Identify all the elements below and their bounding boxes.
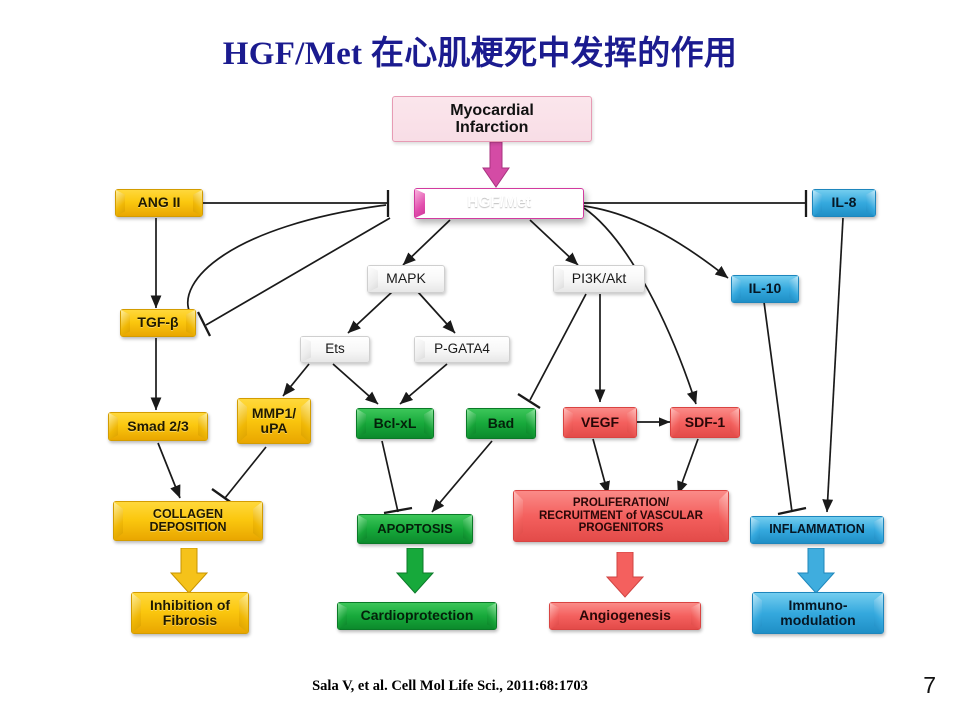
node-inhibition-of-fibrosis[interactable]: Inhibition of Fibrosis xyxy=(131,592,249,634)
node-inflammation-label: INFLAMMATION xyxy=(763,523,871,537)
edge-hgfmet-activates-pi3k xyxy=(530,220,578,265)
slide-canvas: HGF/Met 在心肌梗死中发挥的作用 xyxy=(0,0,960,720)
node-collagen-deposition[interactable]: COLLAGEN DEPOSITION xyxy=(113,501,263,541)
node-vegf-label: VEGF xyxy=(575,415,625,430)
node-ets-label: Ets xyxy=(319,342,351,357)
node-tgf-beta-label: TGF-β xyxy=(131,315,184,330)
edge-tgfb-inhibits-hgfmet-curve xyxy=(188,205,386,313)
node-inflammation[interactable]: INFLAMMATION xyxy=(750,516,884,544)
node-il-8[interactable]: IL-8 xyxy=(812,189,876,217)
node-hgf-met[interactable]: HGF/Met xyxy=(414,188,584,219)
node-bad[interactable]: Bad xyxy=(466,408,536,439)
node-pi3k-akt[interactable]: PI3K/Akt xyxy=(553,265,645,293)
node-apoptosis-label: APOPTOSIS xyxy=(371,522,459,536)
node-mi-line1: Myocardial xyxy=(450,102,534,119)
node-proliferation-line2: RECRUITMENT of VASCULAR xyxy=(539,510,703,522)
edge-mapk-activates-pgata4 xyxy=(418,292,455,333)
node-mmp1-line1: MMP1/ xyxy=(252,405,296,421)
node-mmp1-upa[interactable]: MMP1/ uPA xyxy=(237,398,311,444)
edge-vegf-activates-proliferation xyxy=(593,439,608,494)
node-immuno-line2: modulation xyxy=(780,612,855,628)
edge-smad-activates-collagen xyxy=(158,443,180,498)
edge-ets-activates-mmp1 xyxy=(283,364,309,396)
edge-hgfmet-inhibits-tgfb xyxy=(206,218,390,325)
node-angiogenesis-label: Angiogenesis xyxy=(573,608,677,623)
node-cardioprotection-label: Cardioprotection xyxy=(355,608,480,623)
node-tgf-beta[interactable]: TGF-β xyxy=(120,309,196,337)
node-ang-ii[interactable]: ANG II xyxy=(115,189,203,217)
node-bclxl-label: Bcl-xL xyxy=(368,416,423,431)
node-proliferation-recruitment[interactable]: PROLIFERATION/ RECRUITMENT of VASCULAR P… xyxy=(513,490,729,542)
node-myocardial-infarction[interactable]: Myocardial Infarction xyxy=(392,96,592,142)
node-proliferation-line3: PROGENITORS xyxy=(579,522,664,534)
node-ang-ii-label: ANG II xyxy=(132,195,187,210)
node-il10-label: IL-10 xyxy=(743,281,788,296)
node-smad-2-3[interactable]: Smad 2/3 xyxy=(108,412,208,441)
block-arrow-collagen-to-fibrosis xyxy=(170,548,208,594)
node-smad-label: Smad 2/3 xyxy=(121,419,194,434)
node-ets[interactable]: Ets xyxy=(300,336,370,363)
edge-pgata4-activates-bclxl xyxy=(400,364,447,404)
edge-pi3k-inhibits-bad-bar xyxy=(518,394,540,408)
block-arrow-inflammation-to-immunomodulation xyxy=(797,548,835,594)
node-mi-line2: Infarction xyxy=(456,119,529,136)
block-arrow-apoptosis-to-cardioprotection xyxy=(396,548,434,594)
edge-mapk-activates-ets xyxy=(348,292,392,333)
node-pgata4-label: P-GATA4 xyxy=(428,342,496,357)
node-vegf[interactable]: VEGF xyxy=(563,407,637,438)
node-pi3k-label: PI3K/Akt xyxy=(566,271,632,286)
node-hgf-met-label: HGF/Met xyxy=(461,195,537,212)
node-fibrosis-line1: Inhibition of xyxy=(150,597,230,613)
node-immuno-line1: Immuno- xyxy=(788,597,847,613)
node-il8-label: IL-8 xyxy=(826,195,863,210)
node-immunomodulation[interactable]: Immuno- modulation xyxy=(752,592,884,634)
block-arrow-mi-to-hgfmet xyxy=(482,142,510,188)
node-apoptosis[interactable]: APOPTOSIS xyxy=(357,514,473,544)
edge-sdf1-activates-proliferation xyxy=(678,439,698,494)
node-cardioprotection[interactable]: Cardioprotection xyxy=(337,602,497,630)
edge-il10-inhibits-inflammation xyxy=(764,302,792,512)
node-fibrosis-line2: Fibrosis xyxy=(163,612,217,628)
node-sdf1-label: SDF-1 xyxy=(679,415,731,430)
page-number: 7 xyxy=(923,672,936,699)
node-angiogenesis[interactable]: Angiogenesis xyxy=(549,602,701,630)
node-mapk[interactable]: MAPK xyxy=(367,265,445,293)
edge-bad-activates-apoptosis xyxy=(432,441,492,512)
edge-ets-activates-bclxl xyxy=(333,364,378,404)
node-bcl-xl[interactable]: Bcl-xL xyxy=(356,408,434,439)
node-proliferation-line1: PROLIFERATION/ xyxy=(573,497,669,509)
node-il-10[interactable]: IL-10 xyxy=(731,275,799,303)
edge-bclxl-inhibits-apoptosis xyxy=(382,441,398,512)
node-mapk-label: MAPK xyxy=(380,271,432,286)
node-sdf-1[interactable]: SDF-1 xyxy=(670,407,740,438)
edge-mmp1-inhibits-collagen xyxy=(225,447,266,498)
edge-hgfmet-activates-mapk xyxy=(403,220,450,265)
node-collagen-line1: COLLAGEN xyxy=(153,507,223,521)
node-bad-label: Bad xyxy=(482,416,520,431)
edge-il8-activates-inflammation xyxy=(827,218,843,512)
node-p-gata4[interactable]: P-GATA4 xyxy=(414,336,510,363)
node-mmp1-line2: uPA xyxy=(261,420,288,436)
node-collagen-line2: DEPOSITION xyxy=(149,520,226,534)
edge-pi3k-inhibits-bad xyxy=(530,294,586,400)
block-arrow-proliferation-to-angiogenesis xyxy=(606,552,644,598)
citation: Sala V, et al. Cell Mol Life Sci., 2011:… xyxy=(0,678,900,695)
